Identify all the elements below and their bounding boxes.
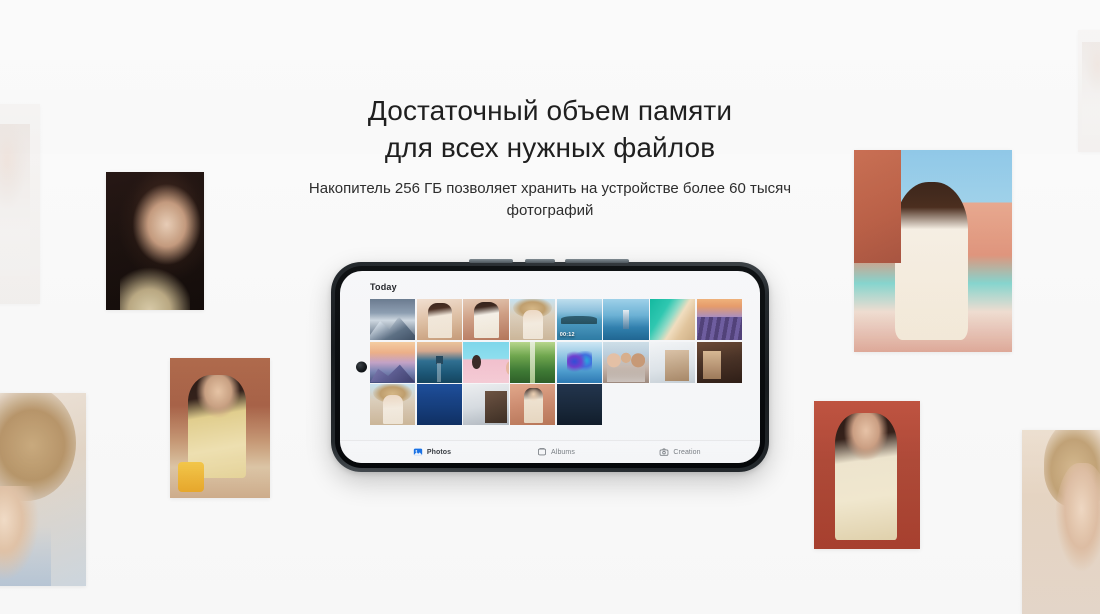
nav-item-photos[interactable]: Photos [370,447,494,457]
photo-thumbnail-woman-white-dress-street[interactable] [417,299,462,340]
photo-thumbnail-woman-straw-hat[interactable] [510,299,555,340]
photo-thumbnail-donuts-pink-blue[interactable] [463,342,508,383]
photo-woman-straw-hat [0,393,86,586]
gallery-section-title: Today [340,271,760,299]
photo-woman-straw-hat-image [0,393,86,586]
photo-thumbnail-navy-blue-abstract[interactable] [417,384,462,425]
photo-thumbnail-lavender-field-sunset[interactable] [697,299,742,340]
photo-woman-yellow-dress [170,358,270,498]
front-camera-icon [356,362,367,373]
nav-item-label-albums: Albums [551,449,575,456]
photo-thumbnail-wooden-pier-turquoise[interactable] [417,342,462,383]
photo-woman-gold-red-door [814,401,920,549]
power-button[interactable] [565,259,629,263]
photo-thumbnail-lighthouse-blue-sea[interactable] [603,299,648,340]
photo-thumbnail-lake-islands-video[interactable]: 00:12 [557,299,602,340]
photo-thumbnail-turquoise-beach-aerial[interactable] [650,299,695,340]
page-title-line1: Достаточный объем памяти [0,92,1100,129]
photo-grid: 00:12 [370,299,742,425]
photo-grid-scroll[interactable]: 00:12 [340,299,760,440]
gallery-bottom-nav: PhotosAlbumsCreation [340,440,760,463]
photo-thumbnail-green-field-road[interactable] [510,342,555,383]
creation-icon [659,447,669,457]
photo-thumbnail-woman-smiling-red-wall[interactable] [463,299,508,340]
phone-screen: Today 00:12 PhotosAlbumsCreation [340,271,760,463]
photo-thumbnail-blue-butterfly[interactable] [557,342,602,383]
photo-thumbnail-night-navy-scene[interactable] [557,384,602,425]
volume-up-button[interactable] [469,259,513,263]
photos-icon [413,447,423,457]
video-duration-badge: 00:12 [560,332,575,338]
photo-woman-yellow-dress-image [170,358,270,498]
photo-thumbnail-purple-mountain-sunset[interactable] [370,342,415,383]
photo-woman-selfie-hat-image [1022,430,1100,614]
photo-woman-gold-red-door-image [814,401,920,549]
nav-item-albums[interactable]: Albums [494,447,618,457]
promo-banner: Достаточный объем памяти для всех нужных… [0,0,1100,614]
nav-item-label-creation: Creation [673,449,700,456]
page-title-line2: для всех нужных файлов [0,129,1100,166]
nav-item-creation[interactable]: Creation [618,447,742,457]
smartphone-device: Today 00:12 PhotosAlbumsCreation [331,262,769,472]
page-subtitle: Накопитель 256 ГБ позволяет хранить на у… [280,178,820,222]
volume-down-button[interactable] [525,259,555,263]
photo-thumbnail-terracotta-portrait[interactable] [510,384,555,425]
photo-thumbnail-dark-room-interior[interactable] [697,342,742,383]
headline-block: Достаточный объем памяти для всех нужных… [0,92,1100,222]
photo-thumbnail-white-sky-hands[interactable] [650,342,695,383]
albums-icon [537,447,547,457]
photo-thumbnail-snow-mountain[interactable] [370,299,415,340]
photo-thumbnail-family-group-portrait[interactable] [603,342,648,383]
side-buttons [469,259,649,263]
photo-woman-selfie-hat [1022,430,1100,614]
photo-thumbnail-desk-documents[interactable] [463,384,508,425]
nav-item-label-photos: Photos [427,449,451,456]
photo-thumbnail-woman-hat-closeup[interactable] [370,384,415,425]
